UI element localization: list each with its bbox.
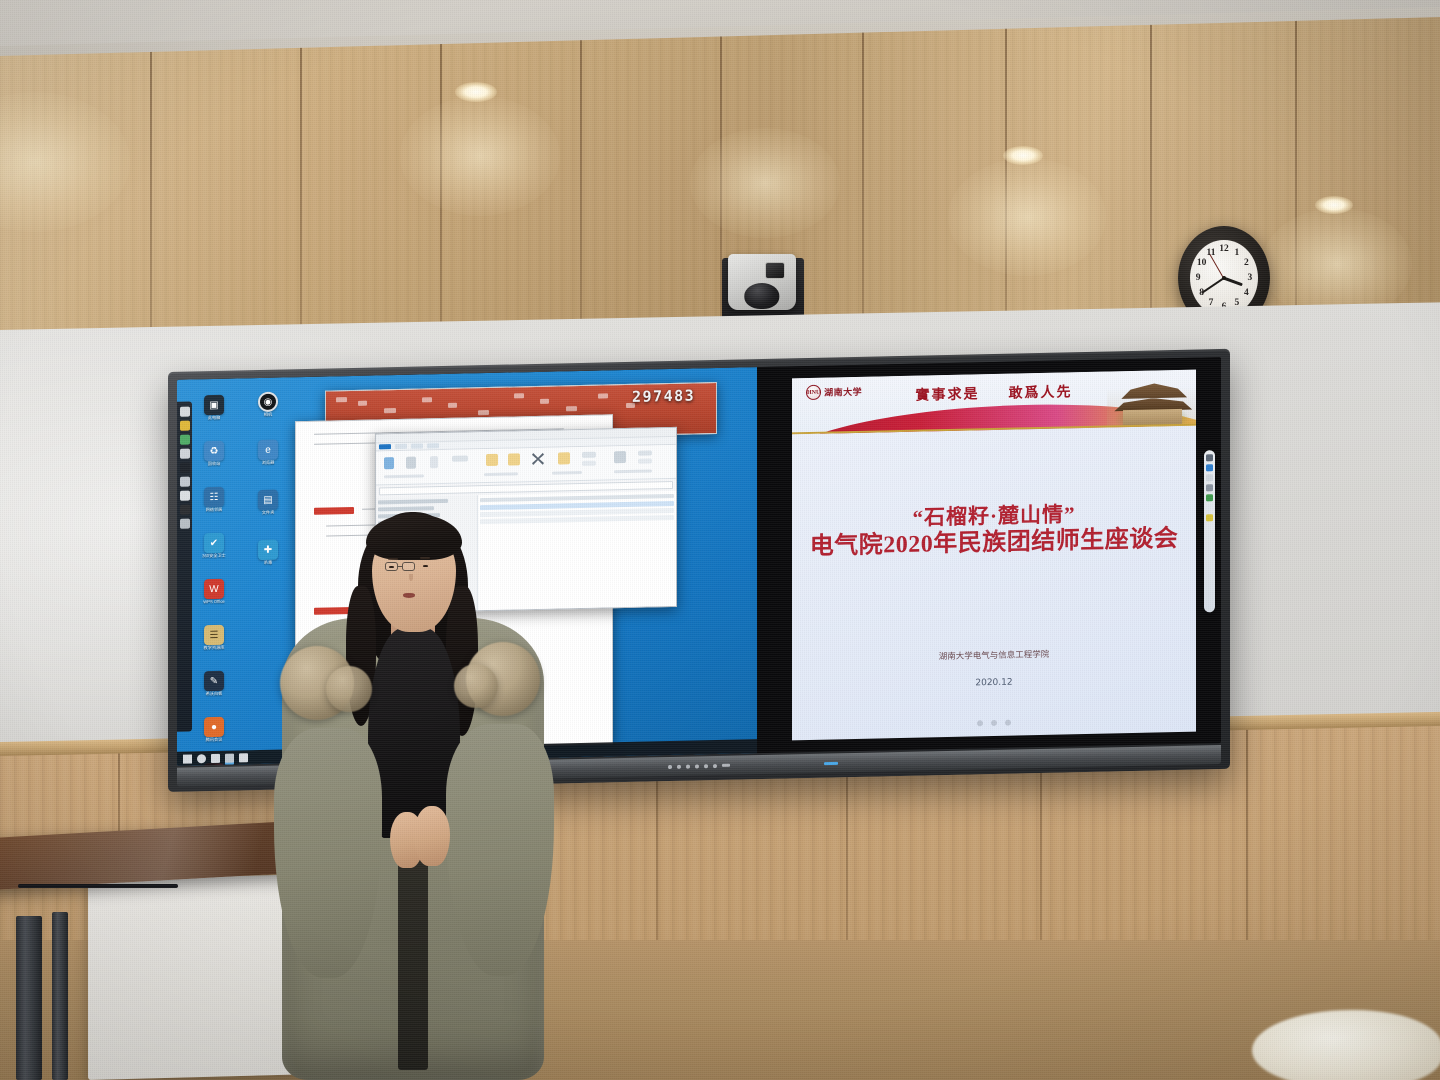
security-shield-icon: ✔ [204, 533, 224, 553]
desktop-icon[interactable]: ● 腾讯会议 [197, 717, 231, 744]
browser-icon: e [258, 440, 278, 460]
desktop-icon-label: 360安全卫士 [197, 554, 231, 560]
file-explorer-icon[interactable] [225, 753, 234, 762]
dock-icon-home[interactable] [180, 407, 190, 417]
camera-dome-icon [744, 283, 779, 309]
bezel-button-home[interactable] [677, 764, 681, 768]
desktop-icon[interactable]: ▣ 此电脑 [197, 395, 231, 422]
network-icon: ☷ [204, 487, 224, 507]
dock-icon-settings[interactable] [180, 505, 190, 515]
explorer-tab-home[interactable] [395, 444, 407, 449]
nose [409, 574, 413, 581]
clock-hour-hand [1223, 277, 1243, 287]
eye-left [389, 566, 394, 568]
desktop-icon-label: 希沃白板 [197, 692, 231, 698]
slide-title-block: “石榴籽·麓山情” 电气院2020年民族团结师生座谈会 [792, 500, 1196, 563]
desktop-icon[interactable]: ☷ 网络邻居 [197, 487, 231, 514]
desktop-icon-label: 浏览器 [251, 460, 285, 466]
bezel-button-menu[interactable] [722, 764, 730, 767]
power-led-icon [824, 761, 838, 764]
presenter-fringe [366, 514, 462, 560]
desktop-icon[interactable]: W WPS Office [197, 579, 231, 606]
fur-trim-left-inner [326, 666, 372, 712]
recycle-bin-icon: ♻ [204, 441, 224, 461]
dock-icon-shapes[interactable] [180, 477, 190, 487]
edge-dock-toolbar[interactable] [177, 401, 192, 731]
fur-trim-right-inner [454, 664, 498, 708]
slideshow-pen-icon[interactable] [991, 719, 997, 725]
lectern-leg [52, 912, 68, 1080]
desktop-icon[interactable]: ✔ 360安全卫士 [197, 533, 231, 560]
desktop-icon[interactable]: ✎ 希沃白板 [197, 671, 231, 698]
clock-numeral: 12 [1219, 244, 1229, 254]
presentation-slide: HNU 湖南大学 實事求是 敢爲人先 “石榴籽·麓山情” 电气院2020年民族团… [792, 369, 1196, 741]
slideshow-controls[interactable] [977, 719, 1011, 726]
panel-divider [757, 367, 767, 753]
shape-icon[interactable] [1206, 494, 1213, 501]
motto-left: 實事求是 [915, 387, 979, 403]
clock-numeral: 3 [1247, 273, 1252, 283]
desktop-icon-label: 腾讯会议 [197, 738, 231, 744]
bezel-button-vol-up[interactable] [713, 764, 717, 768]
camera-lens-icon [765, 262, 785, 279]
glasses-lens-right [402, 562, 415, 571]
dock-icon-cursor[interactable] [180, 449, 190, 459]
clock-face: 121234567891011 [1190, 240, 1258, 317]
floating-annotation-toolbar[interactable] [1204, 450, 1215, 612]
explorer-ribbon[interactable] [376, 445, 676, 486]
clock-numeral: 2 [1244, 258, 1249, 268]
eyebrow-right [420, 557, 430, 559]
explorer-tab-share[interactable] [411, 443, 423, 448]
desktop-icon-label: 回收站 [197, 462, 231, 468]
downlight [1003, 146, 1043, 165]
clock-numeral: 1 [1235, 248, 1240, 258]
pen-icon[interactable] [1206, 464, 1213, 471]
dock-icon-eraser[interactable] [180, 463, 190, 473]
seewo-whiteboard-icon: ✎ [204, 671, 224, 691]
right-display-presentation[interactable]: HNU 湖南大学 實事求是 敢爲人先 “石榴籽·麓山情” 电气院2020年民族团… [767, 357, 1221, 753]
task-view-icon[interactable] [211, 753, 220, 762]
slideshow-prev-icon[interactable] [977, 720, 983, 726]
resource-library-icon: ☰ [204, 625, 224, 645]
bezel-button-back[interactable] [686, 764, 690, 768]
desktop-icon-label: WPS Office [197, 600, 231, 606]
explorer-tab-file[interactable] [379, 444, 391, 449]
more-tools-icon[interactable] [1206, 514, 1213, 521]
bezel-button-vol-down[interactable] [704, 764, 708, 768]
bezel-button-power[interactable] [668, 765, 672, 769]
dock-icon-notes[interactable] [180, 421, 190, 431]
downlight [1315, 196, 1353, 214]
desktop-icon-label: 教学资源库 [197, 646, 231, 652]
security-icon[interactable] [239, 753, 248, 762]
slide-footer-organization: 湖南大学电气与信息工程学院 [792, 645, 1196, 666]
slide-banner: HNU 湖南大学 實事求是 敢爲人先 [792, 369, 1196, 434]
search-icon[interactable] [197, 754, 206, 763]
camera-body [728, 254, 796, 310]
start-button[interactable] [183, 754, 192, 763]
desktop-icon-label: 网络邻居 [197, 508, 231, 514]
bezel-button-row[interactable] [668, 763, 730, 768]
desktop-icon[interactable]: ◉ 相机 [251, 391, 285, 418]
dock-icon-pen[interactable] [180, 435, 190, 445]
clock-numeral: 9 [1196, 273, 1201, 283]
desktop-icon[interactable]: ♻ 回收站 [197, 441, 231, 468]
hand-right [414, 806, 450, 866]
dock-icon-more[interactable] [180, 519, 190, 529]
mouth [403, 593, 415, 598]
desktop-icon-label: 此电脑 [197, 416, 231, 422]
eraser-icon[interactable] [1206, 484, 1213, 491]
clock-numeral: 8 [1199, 288, 1204, 298]
eye-right [423, 565, 428, 567]
room-photo: 121234567891011 [0, 0, 1440, 1080]
clock-center-pin [1222, 276, 1226, 280]
clock-numeral: 4 [1244, 288, 1249, 298]
tencent-meeting-icon: ● [204, 717, 224, 737]
slideshow-next-icon[interactable] [1005, 719, 1011, 725]
motto-right: 敢爲人先 [1008, 385, 1072, 401]
academy-base [1123, 409, 1182, 425]
downlight [455, 82, 497, 102]
clock-minute-hand [1201, 277, 1225, 294]
desktop-icon[interactable]: e 浏览器 [251, 439, 285, 466]
highlighter-icon[interactable] [1206, 474, 1213, 481]
slide-footer-date: 2020.12 [792, 674, 1196, 693]
camera-app-icon: ◉ [258, 392, 278, 412]
this-pc-icon: ▣ [204, 395, 224, 415]
desk-cable [18, 884, 178, 888]
meeting-id-overlay: 297483 [632, 386, 695, 405]
clock-numeral: 11 [1207, 248, 1216, 258]
desktop-icon-label: 相机 [251, 412, 285, 418]
dock-icon-capture[interactable] [180, 491, 190, 501]
capture-icon[interactable] [1206, 504, 1213, 511]
lectern-leg [16, 916, 42, 1080]
bezel-button-source[interactable] [695, 764, 699, 768]
wps-office-icon: W [204, 579, 224, 599]
pointer-icon[interactable] [1206, 454, 1213, 461]
eyebrow-left [388, 558, 398, 560]
explorer-tab-view[interactable] [427, 443, 439, 448]
presenter [268, 500, 558, 1080]
clock-numeral: 10 [1197, 258, 1207, 268]
desktop-icon[interactable]: ☰ 教学资源库 [197, 625, 231, 652]
